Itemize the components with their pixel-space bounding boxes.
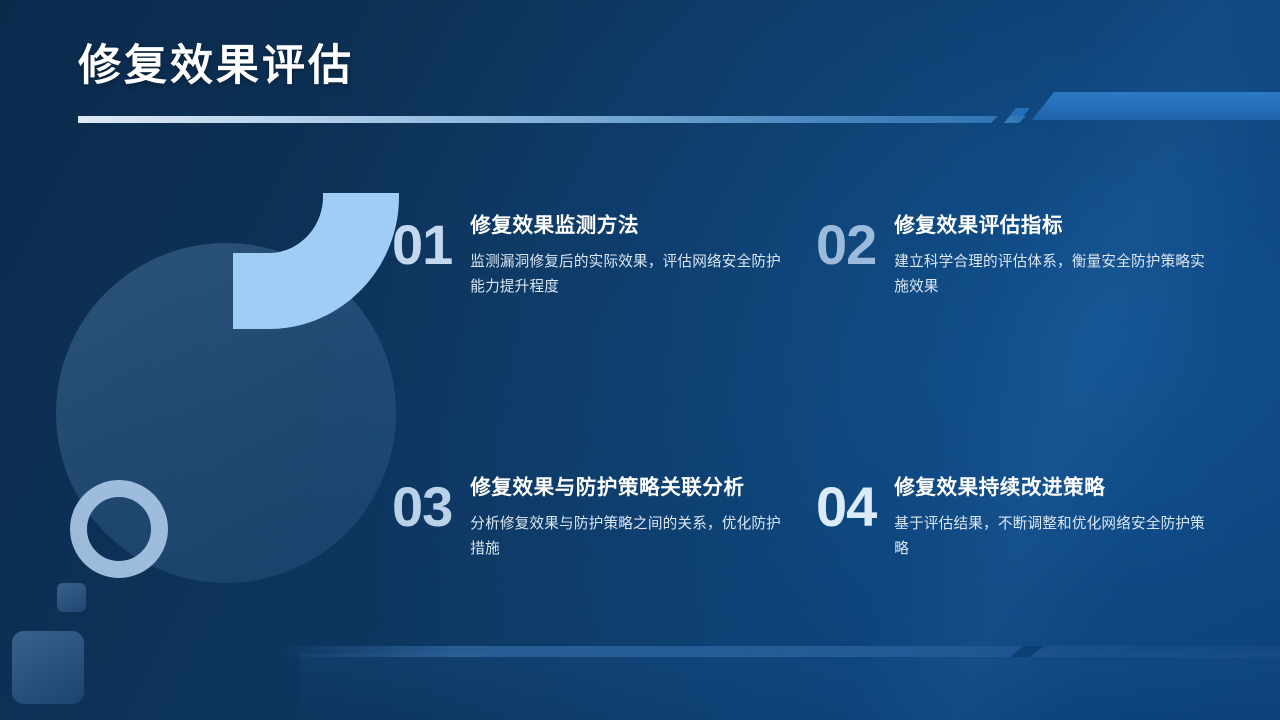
item-body-04: 修复效果持续改进策略 基于评估结果，不断调整和优化网络安全防护策略 bbox=[894, 472, 1212, 562]
arc-crescent-icon bbox=[233, 193, 399, 329]
item-description-02: 建立科学合理的评估体系，衡量安全防护策略实施效果 bbox=[894, 250, 1214, 301]
item-title-01: 修复效果监测方法 bbox=[470, 214, 790, 239]
item-body-01: 修复效果监测方法 监测漏洞修复后的实际效果，评估网络安全防护能力提升程度 bbox=[470, 210, 790, 300]
bottom-glow bbox=[300, 654, 1280, 720]
large-square-decoration bbox=[12, 631, 84, 704]
top-right-accent-band bbox=[1032, 92, 1280, 120]
small-square-decoration bbox=[57, 583, 86, 612]
item-description-03: 分析修复效果与防护策略之间的关系，优化防护措施 bbox=[470, 512, 788, 563]
content-item-03[interactable]: 03 修复效果与防护策略关联分析 分析修复效果与防护策略之间的关系，优化防护措施 bbox=[392, 472, 816, 562]
item-description-04: 基于评估结果，不断调整和优化网络安全防护策略 bbox=[894, 512, 1212, 563]
item-number-03: 03 bbox=[392, 481, 452, 533]
ring-outline-decoration bbox=[70, 480, 168, 578]
page-title: 修复效果评估 bbox=[78, 42, 1208, 91]
item-body-02: 修复效果评估指标 建立科学合理的评估体系，衡量安全防护策略实施效果 bbox=[894, 210, 1214, 300]
item-number-02: 02 bbox=[816, 219, 876, 271]
item-number-04: 04 bbox=[816, 481, 876, 533]
item-title-02: 修复效果评估指标 bbox=[894, 214, 1214, 239]
content-item-04[interactable]: 04 修复效果持续改进策略 基于评估结果，不断调整和优化网络安全防护策略 bbox=[816, 472, 1222, 562]
bottom-accent-notch bbox=[1010, 646, 1044, 657]
item-body-03: 修复效果与防护策略关联分析 分析修复效果与防护策略之间的关系，优化防护措施 bbox=[470, 472, 788, 562]
title-underline bbox=[78, 116, 998, 123]
item-title-04: 修复效果持续改进策略 bbox=[894, 476, 1212, 501]
content-item-02[interactable]: 02 修复效果评估指标 建立科学合理的评估体系，衡量安全防护策略实施效果 bbox=[816, 210, 1222, 472]
item-description-01: 监测漏洞修复后的实际效果，评估网络安全防护能力提升程度 bbox=[470, 250, 790, 301]
slide-header: 修复效果评估 bbox=[78, 42, 1208, 91]
content-item-01[interactable]: 01 修复效果监测方法 监测漏洞修复后的实际效果，评估网络安全防护能力提升程度 bbox=[392, 210, 816, 472]
large-circle-decoration bbox=[56, 243, 396, 583]
item-title-03: 修复效果与防护策略关联分析 bbox=[470, 476, 788, 501]
content-grid: 01 修复效果监测方法 监测漏洞修复后的实际效果，评估网络安全防护能力提升程度 … bbox=[392, 210, 1222, 562]
item-number-01: 01 bbox=[392, 219, 452, 271]
bottom-accent-band bbox=[276, 646, 1280, 657]
title-underline-tip bbox=[1004, 116, 1026, 123]
presentation-slide: 修复效果评估 01 修复效果监测方法 监测漏洞修复后的实际效果，评估网络安全防护… bbox=[0, 0, 1280, 720]
